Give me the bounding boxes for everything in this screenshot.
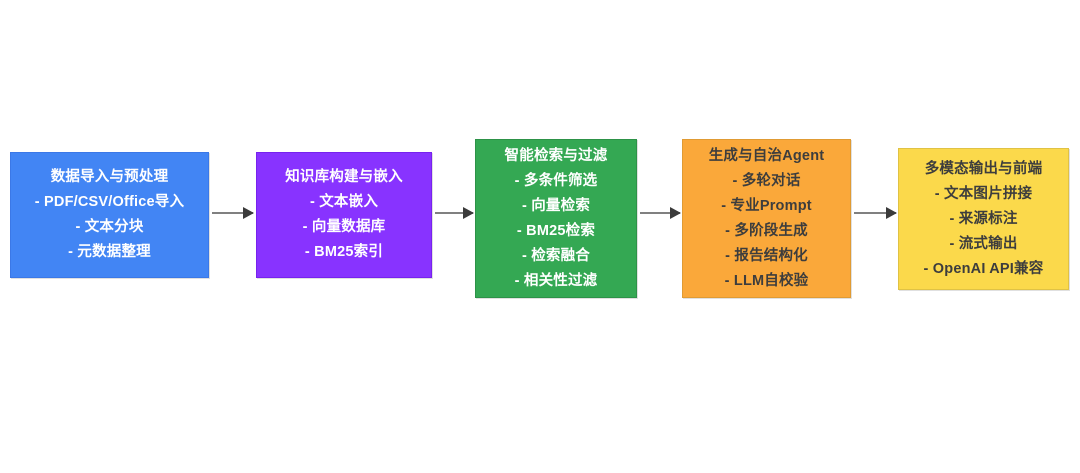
node-generation-agent-item: - LLM自校验 — [725, 269, 809, 294]
node-multimodal-output-title: 多模态输出与前端 — [925, 157, 1043, 182]
node-generation-agent-item: - 专业Prompt — [721, 194, 812, 219]
arrowhead-icon — [243, 207, 254, 219]
node-multimodal-output-item: - 来源标注 — [949, 207, 1017, 232]
node-knowledge-base-item: - 向量数据库 — [303, 215, 386, 240]
node-generation-agent[interactable]: 生成与自治Agent- 多轮对话- 专业Prompt- 多阶段生成- 报告结构化… — [682, 139, 851, 298]
node-retrieval-filter-item: - 多条件筛选 — [515, 169, 598, 194]
node-generation-agent-item: - 报告结构化 — [725, 244, 808, 269]
node-data-ingestion-item: - 文本分块 — [75, 215, 143, 240]
node-retrieval-filter-item: - 向量检索 — [522, 194, 590, 219]
node-multimodal-output-item: - 文本图片拼接 — [935, 182, 1032, 207]
arrow-3 — [640, 212, 680, 214]
node-retrieval-filter-item: - BM25检索 — [517, 219, 595, 244]
node-knowledge-base[interactable]: 知识库构建与嵌入- 文本嵌入- 向量数据库- BM25索引 — [256, 152, 432, 278]
flowchart-canvas: 数据导入与预处理- PDF/CSV/Office导入- 文本分块- 元数据整理知… — [0, 0, 1080, 473]
node-data-ingestion-title: 数据导入与预处理 — [51, 165, 169, 190]
node-data-ingestion-item: - PDF/CSV/Office导入 — [35, 190, 184, 215]
node-generation-agent-title: 生成与自治Agent — [709, 144, 825, 169]
node-retrieval-filter[interactable]: 智能检索与过滤- 多条件筛选- 向量检索- BM25检索- 检索融合- 相关性过… — [475, 139, 637, 298]
arrow-4 — [854, 212, 896, 214]
arrowhead-icon — [670, 207, 681, 219]
arrow-2 — [435, 212, 473, 214]
arrowhead-icon — [886, 207, 897, 219]
arrowhead-icon — [463, 207, 474, 219]
node-generation-agent-item: - 多轮对话 — [732, 169, 800, 194]
node-multimodal-output-item: - OpenAI API兼容 — [924, 257, 1044, 282]
node-knowledge-base-item: - 文本嵌入 — [310, 190, 378, 215]
arrow-1 — [212, 212, 253, 214]
node-retrieval-filter-item: - 检索融合 — [522, 244, 590, 269]
node-multimodal-output[interactable]: 多模态输出与前端- 文本图片拼接- 来源标注- 流式输出- OpenAI API… — [898, 148, 1069, 290]
node-multimodal-output-item: - 流式输出 — [949, 232, 1017, 257]
node-retrieval-filter-title: 智能检索与过滤 — [505, 144, 608, 169]
node-knowledge-base-item: - BM25索引 — [305, 240, 383, 265]
node-data-ingestion[interactable]: 数据导入与预处理- PDF/CSV/Office导入- 文本分块- 元数据整理 — [10, 152, 209, 278]
node-retrieval-filter-item: - 相关性过滤 — [515, 269, 598, 294]
node-generation-agent-item: - 多阶段生成 — [725, 219, 808, 244]
node-knowledge-base-title: 知识库构建与嵌入 — [285, 165, 403, 190]
node-data-ingestion-item: - 元数据整理 — [68, 240, 151, 265]
